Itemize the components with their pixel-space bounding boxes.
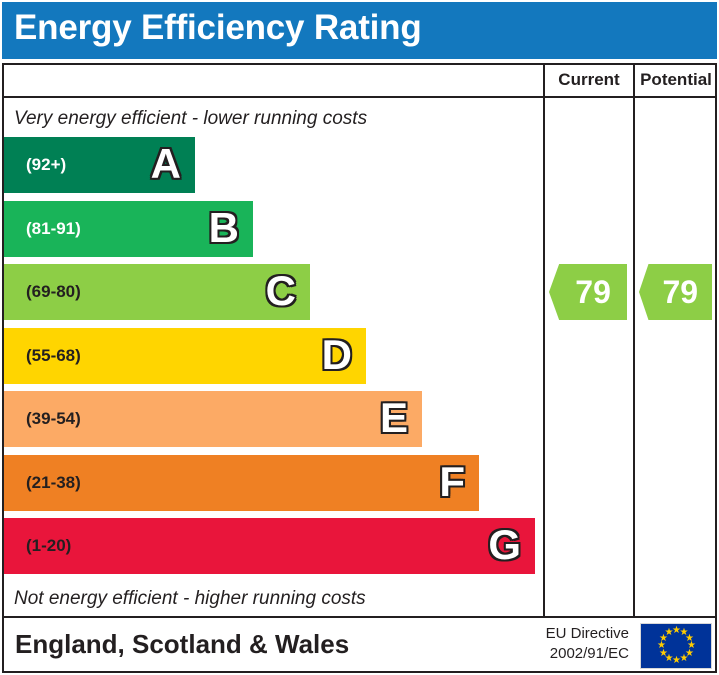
column-header-current: Current: [543, 63, 633, 96]
energy-efficiency-rating-chart: Energy Efficiency Rating Current Potenti…: [0, 0, 719, 675]
eu-directive-line-1: EU Directive: [525, 624, 629, 644]
band-range-b: (81-91): [26, 219, 81, 239]
footer-divider: [2, 616, 717, 618]
rating-band-e: (39-54)E: [4, 391, 422, 447]
page-title: Energy Efficiency Rating: [14, 8, 422, 48]
footer-region-label: England, Scotland & Wales: [15, 629, 349, 660]
band-letter-g: G: [488, 524, 521, 566]
eu-star-icon: ★: [665, 629, 673, 637]
band-range-f: (21-38): [26, 473, 81, 493]
band-range-a: (92+): [26, 155, 66, 175]
caption-efficient: Very energy efficient - lower running co…: [14, 108, 367, 130]
footer: England, Scotland & Wales EU Directive 2…: [4, 620, 715, 671]
eu-directive-text: EU Directive 2002/91/EC: [525, 624, 629, 665]
band-letter-a: A: [151, 143, 181, 185]
eu-directive-line-2: 2002/91/EC: [525, 644, 629, 664]
chart-title-bar: Energy Efficiency Rating: [2, 2, 717, 59]
rating-band-g: (1-20)G: [4, 518, 535, 574]
band-letter-b: B: [209, 207, 239, 249]
band-range-g: (1-20): [26, 536, 71, 556]
caption-inefficient: Not energy efficient - higher running co…: [14, 588, 366, 610]
rating-arrow-potential: 79: [639, 264, 712, 320]
band-letter-c: C: [266, 270, 296, 312]
column-header-row: Current Potential: [2, 63, 717, 98]
band-letter-f: F: [439, 461, 465, 503]
rating-band-d: (55-68)D: [4, 328, 366, 384]
band-range-c: (69-80): [26, 282, 81, 302]
band-letter-d: D: [322, 334, 352, 376]
rating-value-potential: 79: [639, 276, 712, 308]
band-letter-e: E: [380, 397, 408, 439]
eu-star-icon: ★: [672, 657, 680, 665]
eu-flag-icon: ★★★★★★★★★★★★: [640, 623, 712, 669]
rating-value-current: 79: [549, 276, 627, 308]
column-divider-current: [543, 98, 545, 616]
rating-band-f: (21-38)F: [4, 455, 479, 511]
rating-band-c: (69-80)C: [4, 264, 310, 320]
rating-arrow-current: 79: [549, 264, 627, 320]
column-header-potential: Potential: [633, 63, 717, 96]
band-range-d: (55-68): [26, 346, 81, 366]
column-divider-potential: [633, 98, 635, 616]
rating-band-a: (92+)A: [4, 137, 195, 193]
rating-band-b: (81-91)B: [4, 201, 253, 257]
band-range-e: (39-54): [26, 409, 81, 429]
